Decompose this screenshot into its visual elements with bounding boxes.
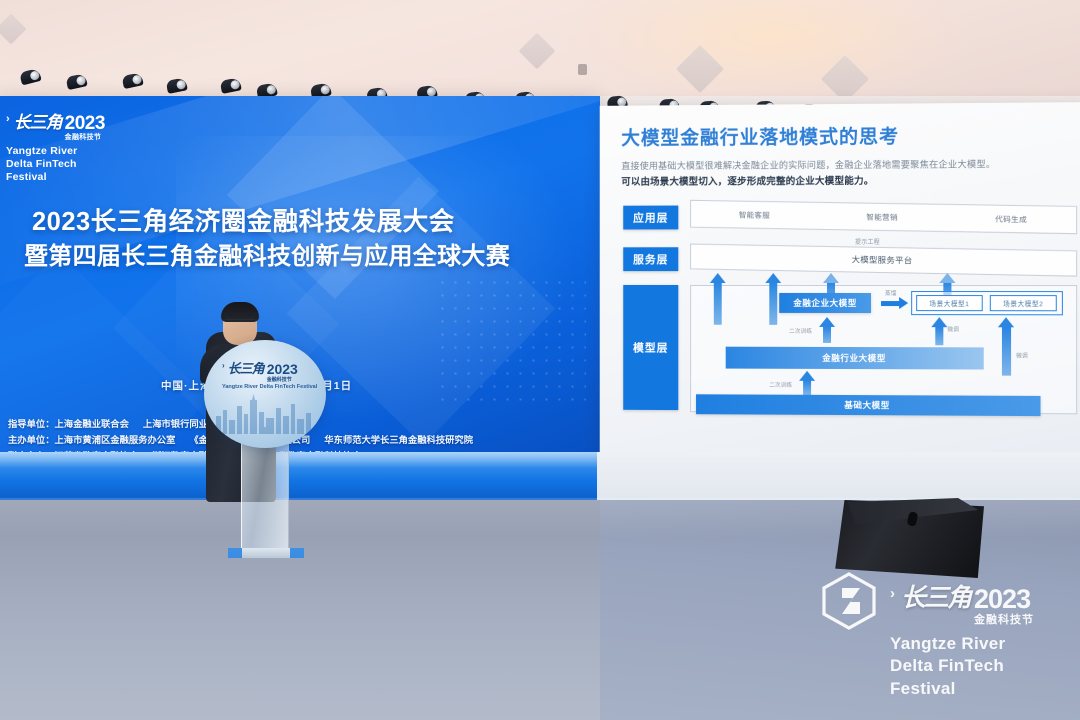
watermark-en-line2: Delta FinTech xyxy=(890,655,1034,677)
arrow-up-stem xyxy=(803,381,811,395)
backdrop-dot-pattern xyxy=(436,276,586,406)
layer-tag-service: 服务层 xyxy=(623,247,678,271)
finetune-label: 微调 xyxy=(947,325,959,333)
arrow-up-head xyxy=(931,317,947,327)
layer-tag-model: 模型层 xyxy=(623,285,678,410)
ceiling-fixture xyxy=(578,64,587,75)
service-cell: 大模型服务平台 xyxy=(691,251,1076,270)
podium-logo-sub: 金融科技节 xyxy=(267,378,298,383)
arrow-up-stem xyxy=(823,327,831,343)
watermark-year: 2023 xyxy=(974,584,1030,614)
app-cell: 智能客服 xyxy=(691,208,818,221)
arrow-up-head xyxy=(819,317,835,327)
festival-logo-podium: › 长三角 2023 金融科技节 Yangtze River Delta Fin… xyxy=(222,362,317,391)
logo-en-line2: Delta FinTech xyxy=(6,158,105,171)
secondary-training-label: 二次训练 xyxy=(769,381,792,389)
model-box-scenario-2: 场景大模型2 xyxy=(990,295,1057,311)
event-title-line1: 2023长三角经济圈金融科技发展大会 xyxy=(32,201,560,238)
layer-tag-label: 服务层 xyxy=(633,251,668,267)
finetune-label: 微调 xyxy=(1016,352,1028,360)
model-box-enterprise: 金融企业大模型 xyxy=(779,293,871,313)
logo-year: 2023 xyxy=(65,113,105,134)
architecture-diagram: 应用层 智能客服 智能营销 代码生成 提示工程 服务层 大模型服务平台 xyxy=(621,200,1080,432)
arrow-right-stem xyxy=(881,301,899,306)
presentation-slide: 大模型金融行业落地模式的思考 直接使用基础大模型很难解决金融企业的实际问题，金融… xyxy=(600,102,1080,462)
layer-tag-application: 应用层 xyxy=(623,206,678,230)
event-title-line2: 暨第四届长三角金融科技创新与应用全球大赛 xyxy=(24,236,564,271)
service-layer-band: 大模型服务平台 xyxy=(690,244,1077,277)
podium-base xyxy=(228,548,304,558)
model-box-industry: 金融行业大模型 xyxy=(726,347,984,370)
slide-subtitle-line1: 直接使用基础大模型很难解决金融企业的实际问题，金融企业落地需要聚焦在企业大模型。 xyxy=(621,157,1080,174)
festival-logo-backdrop: › 长三角 2023 金融科技节 Yangtze River Delta Fin… xyxy=(6,114,105,184)
layer-tag-label: 模型层 xyxy=(633,339,668,355)
festival-mark-icon xyxy=(820,572,878,630)
watermark-text: › 长三角 2023 金融科技节 Yangtze River Delta Fin… xyxy=(890,586,1034,700)
prompt-engineering-label: 提示工程 xyxy=(855,237,880,246)
watermark-en-line1: Yangtze River xyxy=(890,633,1034,655)
projection-screen: 大模型金融行业落地模式的思考 直接使用基础大模型很难解决金融企业的实际问题，金融… xyxy=(600,102,1080,462)
podium-logo-en: Yangtze River Delta FinTech Festival xyxy=(222,385,317,391)
secondary-training-label: 二次训练 xyxy=(789,327,812,335)
logo-arrow-icon: › xyxy=(222,362,225,370)
watermark-en-line3: Festival xyxy=(890,678,1034,700)
festival-watermark: › 长三角 2023 金融科技节 Yangtze River Delta Fin… xyxy=(818,572,1068,702)
logo-en-line3: Festival xyxy=(6,171,105,184)
watermark-sub: 金融科技节 xyxy=(974,615,1034,626)
conference-stage-photo: › 长三角 2023 金融科技节 Yangtze River Delta Fin… xyxy=(0,0,1080,720)
podium-logo-cn: 长三角 xyxy=(228,362,264,375)
logo-subtitle-cn: 金融科技节 xyxy=(65,134,105,141)
speaker-glasses xyxy=(225,319,255,326)
layer-tag-label: 应用层 xyxy=(633,210,668,226)
arrow-up-head xyxy=(998,317,1014,327)
slide-title: 大模型金融行业落地模式的思考 xyxy=(621,120,1080,150)
ceiling-glow xyxy=(560,0,980,110)
podium-logo-year: 2023 xyxy=(267,361,298,377)
arrow-up-stem xyxy=(1002,327,1011,375)
application-layer-band: 智能客服 智能营销 代码生成 xyxy=(690,200,1077,234)
arrow-up-head xyxy=(799,371,815,381)
model-box-scenario-1: 场景大模型1 xyxy=(916,295,983,311)
logo-en-line1: Yangtze River xyxy=(6,145,105,158)
logo-title-cn: 长三角 xyxy=(14,114,62,131)
app-cell: 代码生成 xyxy=(946,212,1076,225)
arrow-right-head xyxy=(899,297,908,309)
ceiling-panel-diamond xyxy=(519,33,556,70)
logo-arrow-icon: › xyxy=(6,114,10,125)
watermark-arrow-icon: › xyxy=(890,586,895,601)
podium-logo-panel: › 长三角 2023 金融科技节 Yangtze River Delta Fin… xyxy=(204,340,326,448)
distill-label: 蒸馏 xyxy=(885,289,897,297)
slide-subtitle-line2: 可以由场景大模型切入，逐步形成完整的企业大模型能力。 xyxy=(621,173,1080,190)
app-cell: 智能营销 xyxy=(818,210,946,223)
watermark-cn: 长三角 xyxy=(901,586,970,611)
ceiling-panel-diamond xyxy=(0,13,27,44)
stage-band-highlight xyxy=(0,452,600,468)
skyline-graphic xyxy=(214,394,316,434)
model-box-foundation: 基础大模型 xyxy=(696,394,1040,416)
arrow-up-stem xyxy=(935,327,943,345)
